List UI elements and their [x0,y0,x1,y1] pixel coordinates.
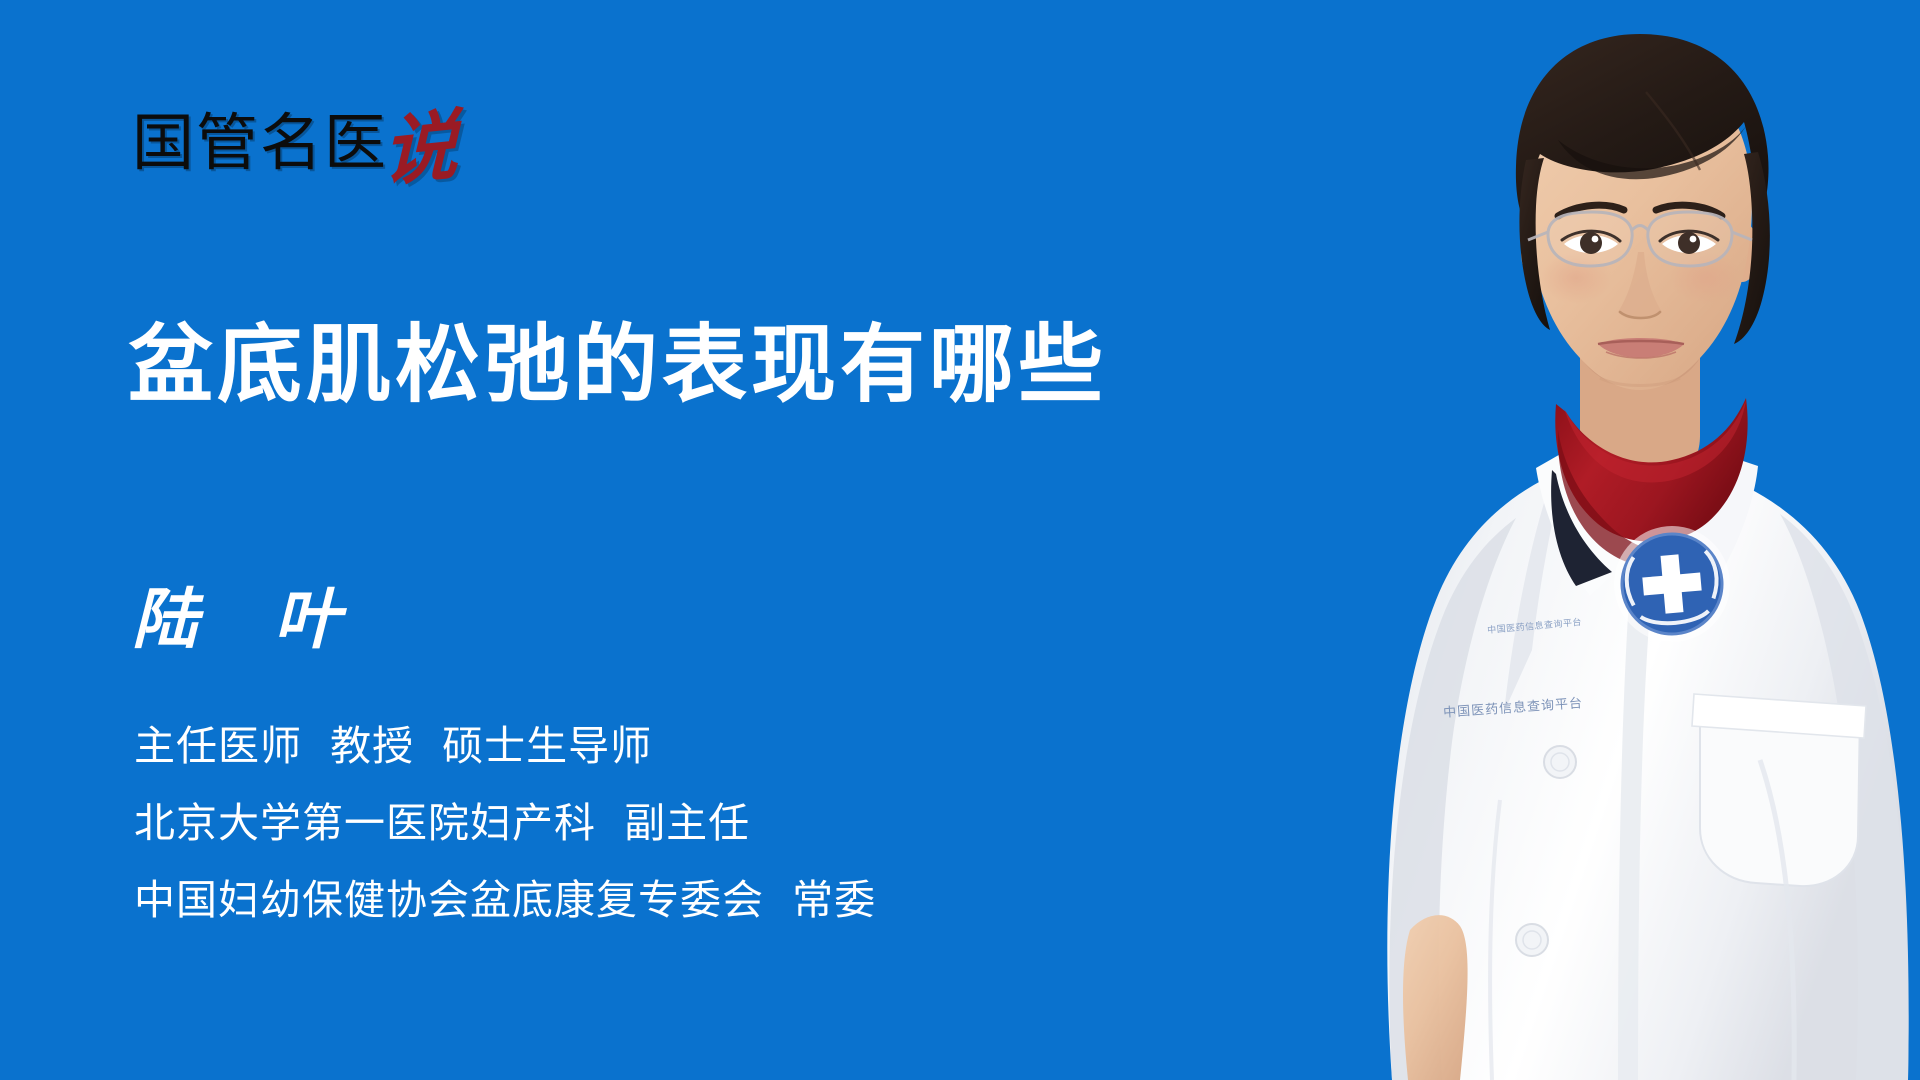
coat-pocket [1692,694,1866,886]
head [1516,34,1770,390]
doctor-credentials: 主任医师 教授 硕士生导师 北京大学第一医院妇产科 副主任 中国妇幼保健协会盆底… [134,726,876,921]
program-logo-main-text: 国管名医 [132,112,388,174]
program-logo-accent-text: 说 [382,110,458,188]
text-panel: 国管名医 说 盆底肌松弛的表现有哪些 陆 叶 主任医师 教授 硕士生导师 北京大… [0,0,1200,1080]
credential-line: 北京大学第一医院妇产科 副主任 [134,803,876,844]
page-title: 盆底肌松弛的表现有哪些 [128,319,1107,413]
doctor-name: 陆 叶 [132,586,350,652]
credential-line: 中国妇幼保健协会盆底康复专委会 常委 [134,880,876,921]
credential-line: 主任医师 教授 硕士生导师 [134,726,876,767]
program-logo: 国管名医 说 [132,96,458,174]
doctor-portrait [1160,0,1920,1080]
video-cover-slide: 中国医药信息查询平台 中国医药信息查询平台 国管名医 说 盆底肌松弛的表现有哪些… [0,0,1920,1080]
